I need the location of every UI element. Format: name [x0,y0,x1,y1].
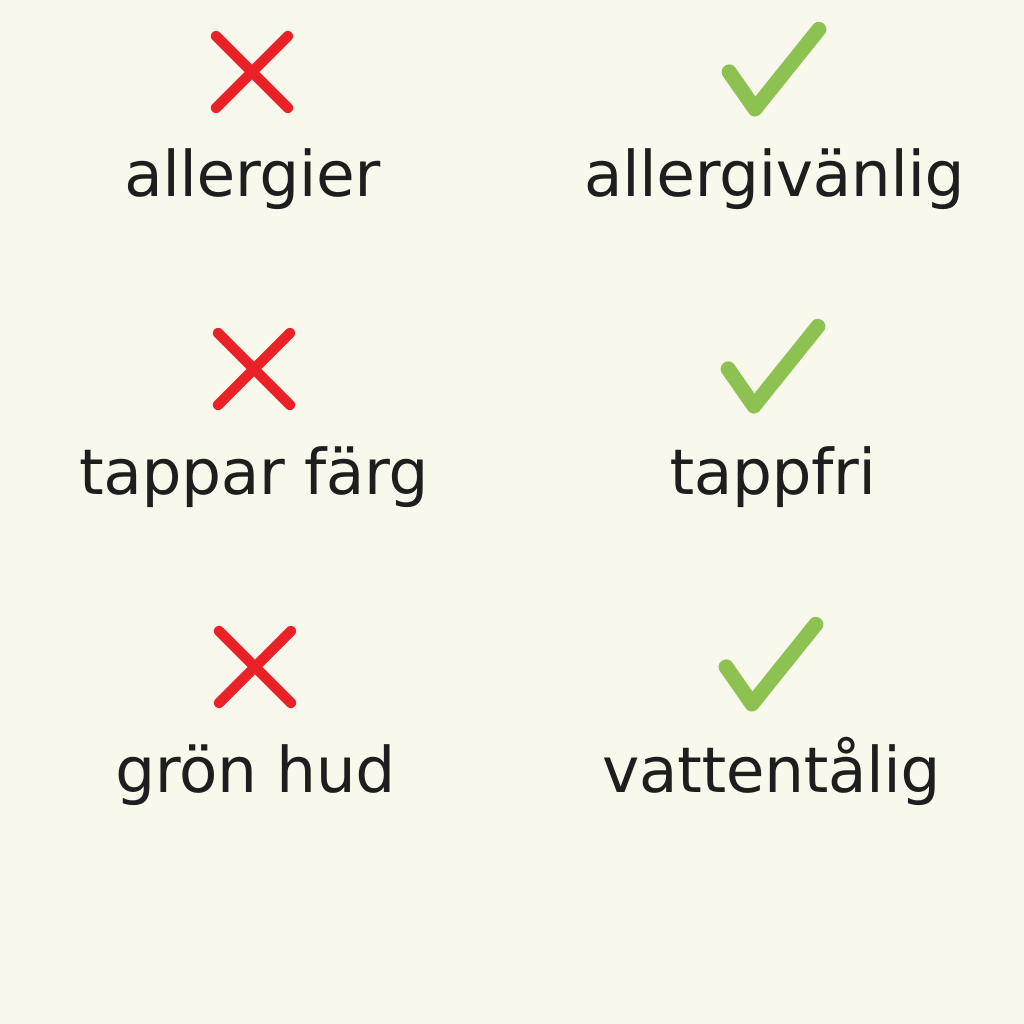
check-icon-slot [715,600,827,732]
feature-label-negative: allergier [124,142,380,208]
feature-cell-positive: allergivänlig [502,0,1024,208]
comparison-board: allergier allergivänlig [0,0,1024,1024]
cross-icon-slot [209,600,301,732]
feature-row: grön hud vattentålig [0,600,1024,900]
check-icon-slot [717,300,829,434]
feature-row: tappar färg tappfri [0,300,1024,600]
feature-label-positive: vattentålig [602,738,940,804]
cross-icon-slot [206,0,298,136]
feature-row: allergier allergivänlig [0,0,1024,300]
feature-label-positive: allergivänlig [584,142,964,208]
cross-icon-slot [208,300,300,434]
bottom-spacer [0,900,1024,1024]
cross-icon [209,621,301,713]
feature-cell-negative: tappar färg [0,300,505,506]
check-icon [717,313,829,425]
cross-icon [208,323,300,415]
cross-icon [206,26,298,118]
feature-label-negative: tappar färg [79,440,428,506]
feature-label-negative: grön hud [115,738,395,804]
check-icon-slot [718,0,830,136]
feature-label-positive: tappfri [669,440,875,506]
feature-cell-positive: tappfri [505,300,1024,506]
feature-cell-negative: allergier [0,0,502,208]
feature-cell-positive: vattentålig [508,600,1024,804]
feature-cell-negative: grön hud [0,600,508,804]
check-icon [718,16,830,128]
check-icon [715,611,827,723]
feature-grid: allergier allergivänlig [0,0,1024,900]
